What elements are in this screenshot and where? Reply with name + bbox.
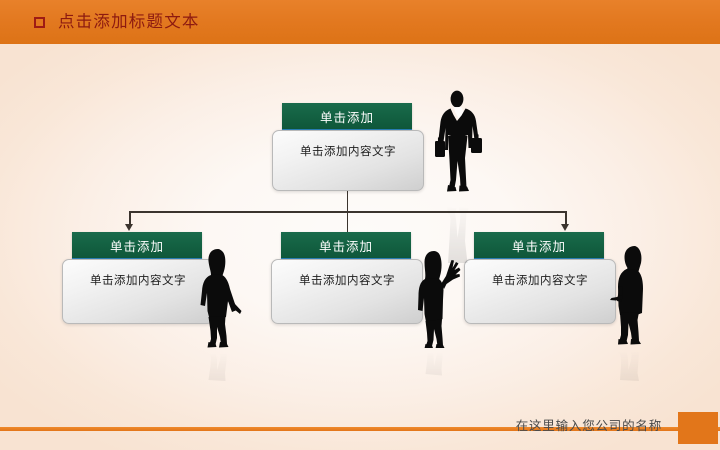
- org-node-child-2-body[interactable]: 单击添加内容文字: [271, 259, 423, 324]
- page-title: 点击添加标题文本: [58, 14, 200, 31]
- org-node-child-1-header[interactable]: 单击添加: [72, 232, 202, 260]
- org-node-child-2-header-label: 单击添加: [319, 236, 373, 255]
- footer-company-name: 在这里输入您公司的名称: [516, 415, 662, 434]
- connector-drop-middle: [347, 211, 349, 232]
- org-node-child-3-header-label: 单击添加: [512, 236, 566, 255]
- square-bullet-icon: [34, 17, 45, 28]
- org-node-top-body[interactable]: 单击添加内容文字: [272, 130, 424, 191]
- org-node-child-2-body-label: 单击添加内容文字: [272, 272, 422, 288]
- businesswoman-waving-icon: [413, 248, 465, 348]
- businessman-with-tablet-reflection: [608, 346, 662, 450]
- title-bar: 点击添加标题文本: [0, 0, 720, 44]
- org-node-child-3-header[interactable]: 单击添加: [474, 232, 604, 260]
- org-node-child-1-header-label: 单击添加: [110, 236, 164, 255]
- org-node-child-2[interactable]: 单击添加 单击添加内容文字: [271, 232, 423, 324]
- connector-arrow-right: [561, 224, 569, 231]
- org-node-top-header[interactable]: 单击添加: [282, 103, 412, 131]
- connector-stem: [347, 189, 349, 211]
- org-node-child-1-body[interactable]: 单击添加内容文字: [62, 259, 214, 324]
- org-node-child-1[interactable]: 单击添加 单击添加内容文字: [62, 232, 214, 324]
- org-node-child-2-header[interactable]: 单击添加: [281, 232, 411, 260]
- businessman-with-briefcase-icon: [426, 88, 490, 200]
- footer-accent-block: [678, 412, 718, 444]
- businesswoman-walking-icon: [196, 245, 250, 349]
- businesswoman-walking-reflection: [196, 348, 250, 450]
- businesswoman-waving-reflection: [413, 347, 465, 447]
- org-node-child-1-body-label: 单击添加内容文字: [63, 272, 213, 288]
- org-node-top[interactable]: 单击添加 单击添加内容文字: [272, 103, 424, 191]
- businessman-with-tablet-icon: [608, 243, 662, 347]
- connector-drop-left: [129, 211, 131, 225]
- org-node-top-header-label: 单击添加: [320, 107, 374, 126]
- org-node-top-body-label: 单击添加内容文字: [273, 143, 423, 159]
- connector-drop-right: [565, 211, 567, 225]
- slide-canvas: 点击添加标题文本 单击添加 单击添加内容文字 单击添加 单击添加内容文字 单击添…: [0, 0, 720, 450]
- connector-arrow-left: [125, 224, 133, 231]
